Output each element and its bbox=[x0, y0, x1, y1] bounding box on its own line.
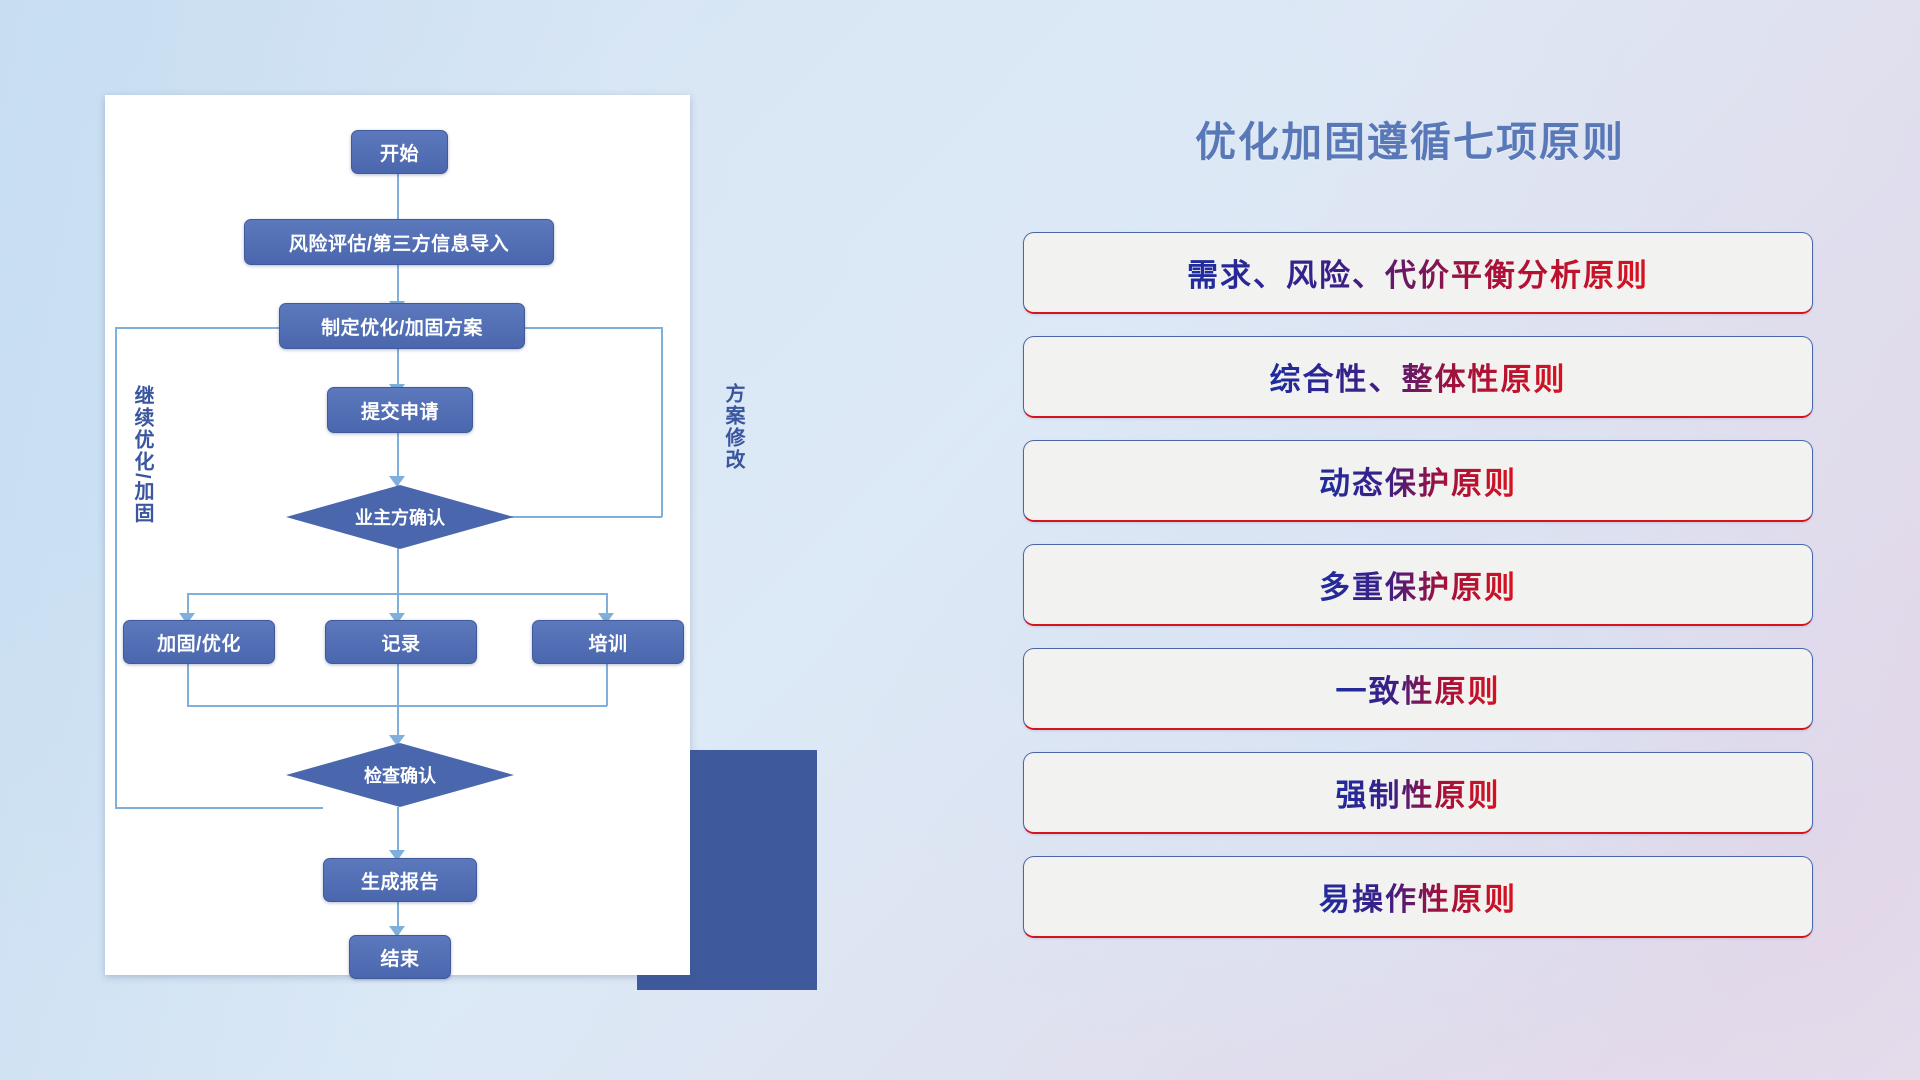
principle-item-4[interactable]: 多重保护原则 bbox=[1023, 544, 1813, 626]
principle-item-5[interactable]: 一致性原则 bbox=[1023, 648, 1813, 730]
flow-node-plan[interactable]: 制定优化/加固方案 bbox=[279, 303, 525, 349]
flow-node-submit[interactable]: 提交申请 bbox=[327, 387, 473, 433]
principle-label: 强制性原则 bbox=[1336, 770, 1501, 815]
flow-node-risk-assessment[interactable]: 风险评估/第三方信息导入 bbox=[244, 219, 554, 265]
flow-node-harden-label: 加固/优化 bbox=[157, 629, 241, 656]
principle-label: 易操作性原则 bbox=[1319, 874, 1517, 919]
flow-node-risk-assessment-label: 风险评估/第三方信息导入 bbox=[289, 229, 509, 256]
connector-owner-bus bbox=[397, 547, 399, 593]
flowchart-card: 开始 风险评估/第三方信息导入 制定优化/加固方案 提交申请 业主方确认 加固/… bbox=[105, 95, 690, 975]
principle-item-3[interactable]: 动态保护原则 bbox=[1023, 440, 1813, 522]
flow-node-check-confirm-label: 检查确认 bbox=[364, 762, 436, 788]
flow-node-owner-confirm-label: 业主方确认 bbox=[355, 504, 445, 530]
arrowhead-submit-owner bbox=[389, 476, 405, 487]
flow-node-training[interactable]: 培训 bbox=[532, 620, 684, 664]
flow-node-plan-label: 制定优化/加固方案 bbox=[321, 313, 483, 340]
flow-node-report[interactable]: 生成报告 bbox=[323, 858, 477, 902]
connector-owner-loopright bbox=[496, 516, 662, 518]
flow-node-record-label: 记录 bbox=[381, 629, 420, 656]
connector-loopleft-vertical bbox=[115, 327, 117, 808]
flow-node-record[interactable]: 记录 bbox=[325, 620, 477, 664]
flow-edge-label-plan-revise: 方案修改 bbox=[719, 383, 748, 471]
flow-edge-label-continue-optimize: 继续优化/加固 bbox=[128, 385, 157, 525]
principle-item-2[interactable]: 综合性、整体性原则 bbox=[1023, 336, 1813, 418]
principle-label: 综合性、整体性原则 bbox=[1270, 354, 1567, 399]
connector-loopleft-to-plan bbox=[115, 327, 305, 329]
principles-list: 需求、风险、代价平衡分析原则 综合性、整体性原则 动态保护原则 多重保护原则 一… bbox=[1023, 232, 1813, 960]
principle-item-7[interactable]: 易操作性原则 bbox=[1023, 856, 1813, 938]
principle-item-6[interactable]: 强制性原则 bbox=[1023, 752, 1813, 834]
connector-record-check bbox=[397, 662, 399, 744]
principle-item-1[interactable]: 需求、风险、代价平衡分析原则 bbox=[1023, 232, 1813, 314]
flow-node-check-confirm[interactable]: 检查确认 bbox=[286, 743, 514, 807]
principle-label: 多重保护原则 bbox=[1319, 562, 1517, 607]
connector-loopright-to-plan bbox=[509, 327, 662, 329]
flow-node-report-label: 生成报告 bbox=[361, 867, 439, 894]
flow-node-training-label: 培训 bbox=[588, 629, 627, 656]
connector-loopright-vertical bbox=[661, 327, 663, 517]
flow-node-end[interactable]: 结束 bbox=[349, 935, 451, 979]
flow-node-submit-label: 提交申请 bbox=[361, 397, 439, 424]
connector-train-merge bbox=[606, 662, 608, 706]
principle-label: 需求、风险、代价平衡分析原则 bbox=[1187, 250, 1649, 295]
flowchart-canvas: 开始 风险评估/第三方信息导入 制定优化/加固方案 提交申请 业主方确认 加固/… bbox=[105, 95, 690, 975]
connector-harden-merge bbox=[187, 662, 189, 706]
principle-label: 动态保护原则 bbox=[1319, 458, 1517, 503]
flow-node-start-label: 开始 bbox=[380, 139, 419, 166]
flow-node-start[interactable]: 开始 bbox=[351, 130, 448, 174]
connector-check-loopleft bbox=[115, 807, 323, 809]
page-title: 优化加固遵循七项原则 bbox=[1030, 108, 1790, 168]
principle-label: 一致性原则 bbox=[1336, 666, 1501, 711]
flow-node-harden[interactable]: 加固/优化 bbox=[123, 620, 275, 664]
flow-node-end-label: 结束 bbox=[380, 944, 419, 971]
flow-node-owner-confirm[interactable]: 业主方确认 bbox=[286, 485, 514, 549]
